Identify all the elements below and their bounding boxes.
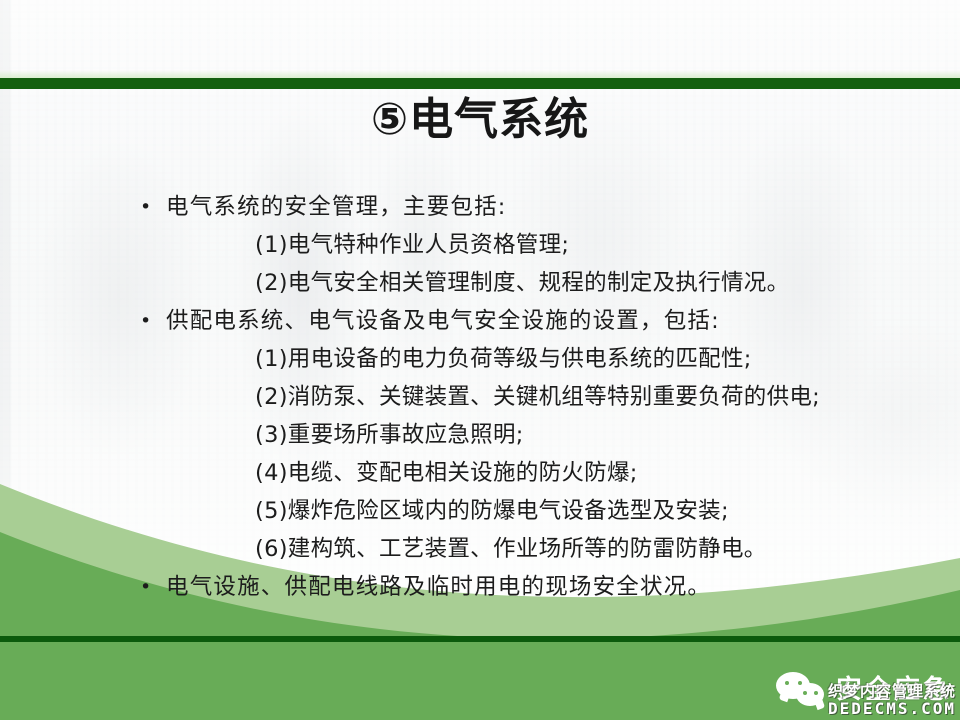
wechat-icon [776,670,830,710]
page-title: ⑤电气系统 [0,95,960,145]
sub-item-text: (5)爆炸危险区域内的防爆电气设备选型及安装; [255,492,729,530]
sub-item-row: (4)电缆、变配电相关设施的防火防爆; [255,454,930,492]
bullet-row: •电气设施、供配电线路及临时用电的现场安全状况。 [140,568,930,606]
sub-item-row: (3)重要场所事故应急照明; [255,416,930,454]
sub-item-row: (1)用电设备的电力负荷等级与供电系统的匹配性; [255,340,930,378]
bullet-glyph-icon: • [140,302,166,340]
sub-item-row: (2)消防泵、关键装置、关键机组等特别重要负荷的供电; [255,378,930,416]
top-green-rule [0,78,960,89]
bullet-list: •电气系统的安全管理，主要包括:(1)电气特种作业人员资格管理;(2)电气安全相… [140,188,930,606]
sub-item-text: (3)重要场所事故应急照明; [255,416,524,454]
sub-item-row: (2)电气安全相关管理制度、规程的制定及执行情况。 [255,264,930,302]
slide-canvas: ⑤电气系统 •电气系统的安全管理，主要包括:(1)电气特种作业人员资格管理;(2… [0,0,960,720]
bullet-glyph-icon: • [140,568,166,606]
sub-item-row: (6)建构筑、工艺装置、作业场所等的防雷防静电。 [255,530,930,568]
bullet-row: •供配电系统、电气设备及电气安全设施的设置，包括: [140,302,930,340]
sub-item-text: (2)消防泵、关键装置、关键机组等特别重要负荷的供电; [255,378,820,416]
brand-logo: 安全应急 [776,670,952,710]
brand-logo-label: 安全应急 [836,675,952,705]
top-rule-glow [0,70,960,78]
sub-item-row: (1)电气特种作业人员资格管理; [255,226,930,264]
sub-item-text: (6)建构筑、工艺装置、作业场所等的防雷防静电。 [255,530,767,568]
bullet-text: 电气系统的安全管理，主要包括: [166,188,507,226]
sub-item-text: (4)电缆、变配电相关设施的防火防爆; [255,454,638,492]
bottom-green-line [0,636,960,642]
sub-item-text: (2)电气安全相关管理制度、规程的制定及执行情况。 [255,264,789,302]
bullet-text: 电气设施、供配电线路及临时用电的现场安全状况。 [166,568,711,606]
sub-item-text: (1)电气特种作业人员资格管理; [255,226,569,264]
bullet-row: •电气系统的安全管理，主要包括: [140,188,930,226]
sub-item-text: (1)用电设备的电力负荷等级与供电系统的匹配性; [255,340,752,378]
bullet-text: 供配电系统、电气设备及电气安全设施的设置，包括: [166,302,720,340]
bullet-glyph-icon: • [140,188,166,226]
sub-item-row: (5)爆炸危险区域内的防爆电气设备选型及安装; [255,492,930,530]
